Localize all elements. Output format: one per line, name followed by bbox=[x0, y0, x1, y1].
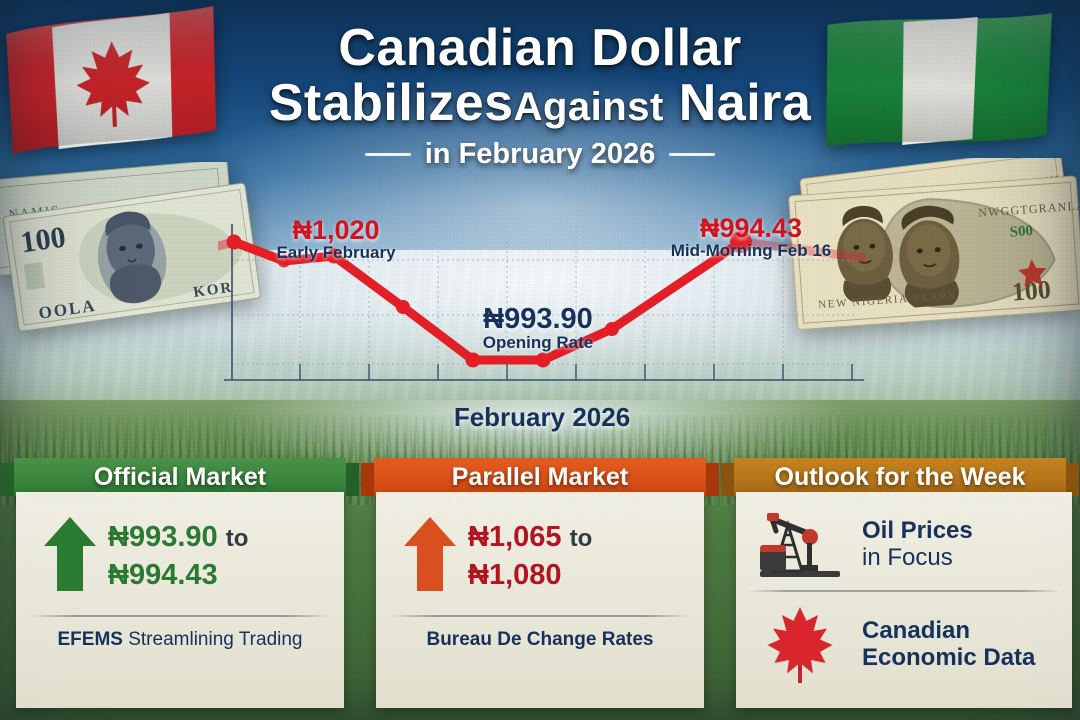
outlook-item-text: Oil Prices in Focus bbox=[862, 518, 973, 572]
chart-x-axis-label: February 2026 bbox=[218, 402, 866, 433]
footnote-bold: Bureau De Change Rates bbox=[426, 629, 653, 650]
rate-text: ₦993.90 to ₦994.43 bbox=[108, 519, 248, 593]
rate-from: ₦1,065 bbox=[468, 521, 562, 553]
footnote-light: Streamlining Trading bbox=[128, 629, 302, 650]
rate-row: ₦993.90 to ₦994.43 bbox=[16, 492, 344, 599]
summary-panels: Official Market ₦993.90 to ₦994.43 EFEMS… bbox=[0, 452, 1080, 720]
oil-pump-icon bbox=[752, 503, 848, 587]
footnote-bold: EFEMS bbox=[58, 629, 123, 650]
outlook-line-1: Oil Prices bbox=[862, 518, 973, 545]
arrow-up-icon bbox=[402, 514, 458, 599]
rate-row: ₦1,065 to ₦1,080 bbox=[376, 492, 704, 599]
outlook-item-canadian-economic-data: Canadian Economic Data bbox=[736, 592, 1072, 688]
panel-footnote: EFEMS Streamlining Trading bbox=[16, 617, 344, 651]
rate-to: ₦1,080 bbox=[468, 559, 562, 591]
panel-body-official-market: ₦993.90 to ₦994.43 EFEMS Streamlining Tr… bbox=[16, 492, 344, 708]
outlook-line-1: Canadian bbox=[862, 618, 1035, 645]
exchange-rate-line-chart: ₦1,020 Early February ₦993.90 Opening Ra… bbox=[218, 212, 866, 442]
chart-data-points bbox=[227, 231, 753, 368]
arrow-up-icon bbox=[42, 514, 98, 599]
panel-body-outlook: Oil Prices in Focus bbox=[736, 492, 1072, 708]
canada-flag-icon bbox=[3, 0, 221, 156]
panel-footnote: Bureau De Change Rates bbox=[376, 617, 704, 651]
panel-body-parallel-market: ₦1,065 to ₦1,080 Bureau De Change Rates bbox=[376, 492, 704, 708]
svg-text:S00: S00 bbox=[1009, 223, 1033, 241]
panel-outlook-for-the-week: Outlook for the Week bbox=[720, 452, 1080, 720]
svg-text:100: 100 bbox=[19, 220, 68, 259]
panel-heading-parallel-market: Parallel Market bbox=[374, 458, 706, 496]
chart-svg bbox=[218, 212, 866, 398]
panel-heading-official-market: Official Market bbox=[14, 458, 346, 496]
outlook-item-oil-prices: Oil Prices in Focus bbox=[736, 492, 1072, 588]
maple-leaf-icon bbox=[752, 603, 848, 687]
outlook-item-text: Canadian Economic Data bbox=[862, 618, 1035, 672]
rate-to: ₦994.43 bbox=[108, 559, 218, 591]
infographic-canvas: NAMIS 100 OOLA KOR bbox=[0, 0, 1080, 720]
rate-text: ₦1,065 to ₦1,080 bbox=[468, 519, 592, 593]
rate-connector: to bbox=[226, 525, 249, 552]
panel-parallel-market: Parallel Market ₦1,065 to ₦1,080 Bureau … bbox=[360, 452, 720, 720]
outlook-line-2: in Focus bbox=[862, 545, 973, 572]
outlook-line-2: Economic Data bbox=[862, 645, 1035, 672]
nigeria-flag-icon bbox=[818, 3, 1058, 160]
rate-from: ₦993.90 bbox=[108, 521, 218, 553]
rate-connector: to bbox=[570, 525, 593, 552]
panel-official-market: Official Market ₦993.90 to ₦994.43 EFEMS… bbox=[0, 452, 360, 720]
panel-heading-outlook: Outlook for the Week bbox=[734, 458, 1066, 496]
